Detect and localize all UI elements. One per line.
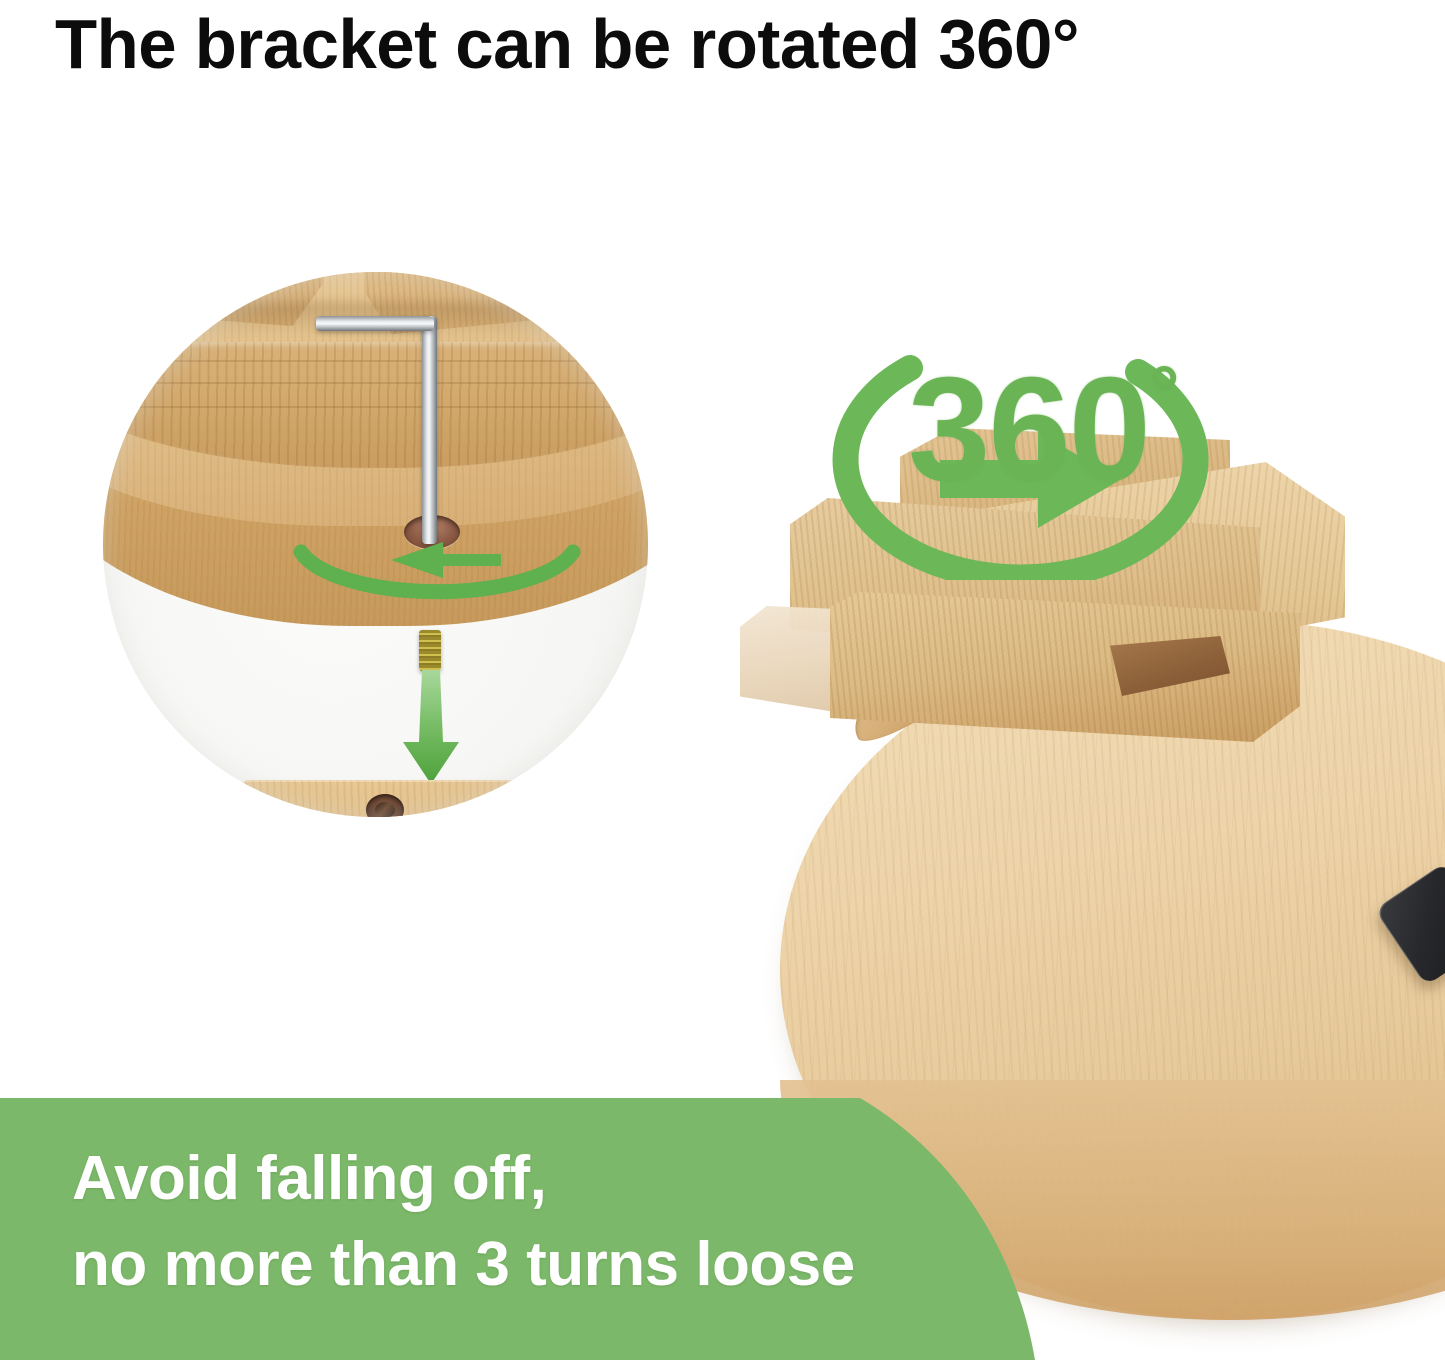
360-value: 360: [908, 347, 1149, 512]
hex-key-handle-icon: [316, 316, 434, 331]
base-screw-hole: [366, 794, 404, 817]
360-degree-rotation-badge: 360°: [790, 260, 1250, 580]
bamboo-base-block: [236, 780, 528, 817]
banner-text: Avoid falling off, no more than 3 turns …: [72, 1136, 972, 1308]
threaded-screw: [419, 630, 441, 672]
rotation-arrow-icon: [273, 500, 603, 630]
infographic-stage: 360° Avoid falling off, no more than 3 t…: [0, 0, 1445, 1360]
banner-line-1: Avoid falling off,: [72, 1136, 972, 1222]
insert-down-arrow-icon: [391, 670, 471, 788]
product-photo: 360°: [720, 180, 1445, 1130]
bracket-slab-front: [830, 592, 1300, 742]
disc-front-rim: [103, 342, 648, 468]
assembly-detail-inset: [103, 272, 648, 817]
degree-symbol: °: [1149, 351, 1177, 436]
warning-banner: Avoid falling off, no more than 3 turns …: [0, 1098, 1060, 1360]
360-badge-text: 360°: [908, 356, 1177, 504]
banner-line-2: no more than 3 turns loose: [72, 1222, 972, 1308]
